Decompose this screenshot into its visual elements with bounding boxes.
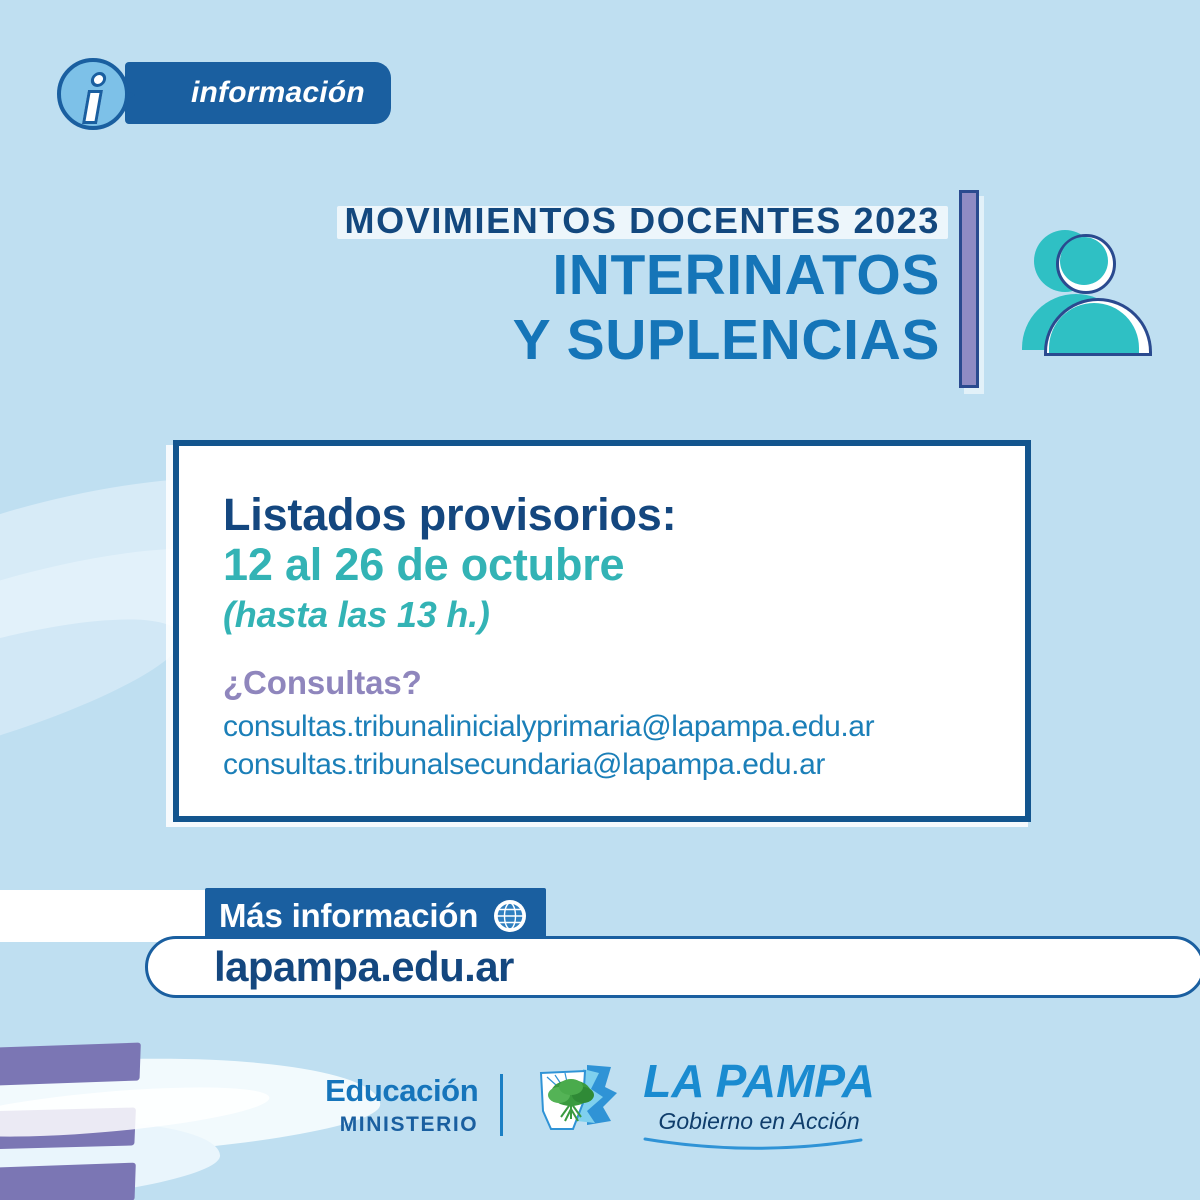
card-email-secondary[interactable]: consultas.tribunalsecundaria@lapampa.edu…	[223, 746, 1025, 784]
footer-logo-group: Educación MINISTERIO	[0, 1058, 1200, 1151]
person-baseline	[1044, 353, 1152, 356]
card-email-primary[interactable]: consultas.tribunalinicialyprimaria@lapam…	[223, 708, 1025, 746]
informacion-banner: información	[125, 62, 391, 124]
headline-line-2: Y SUPLENCIAS	[300, 310, 940, 370]
brand-title: LA PAMPA	[643, 1058, 875, 1104]
footer-divider	[500, 1074, 503, 1136]
headline-kicker: MOVIMIENTOS DOCENTES 2023	[345, 200, 940, 241]
vertical-divider-bar	[959, 190, 979, 388]
ministry-title: Educación	[325, 1075, 478, 1106]
website-pill[interactable]: lapampa.edu.ar	[145, 936, 1200, 998]
brand-subtitle: Gobierno en Acción	[643, 1110, 875, 1133]
headline-line-1: INTERINATOS	[300, 245, 940, 305]
informacion-label: información	[191, 76, 365, 110]
card-consultas-label: ¿Consultas?	[223, 664, 1025, 702]
info-card: Listados provisorios: 12 al 26 de octubr…	[173, 440, 1031, 822]
person-icon	[1022, 228, 1154, 363]
brand-block: LA PAMPA Gobierno en Acción	[643, 1058, 875, 1151]
ministry-subtitle: MINISTERIO	[325, 1114, 478, 1135]
website-url[interactable]: lapampa.edu.ar	[214, 943, 514, 991]
person-head-fill	[1060, 237, 1108, 285]
poster-canvas: información MOVIMIENTOS DOCENTES 2023 IN…	[0, 0, 1200, 1200]
headline-kicker-wrap: MOVIMIENTOS DOCENTES 2023	[345, 200, 940, 241]
headline-group: MOVIMIENTOS DOCENTES 2023 INTERINATOS Y …	[300, 200, 940, 370]
decorative-purple-bar	[0, 1163, 136, 1200]
ministry-block: Educación MINISTERIO	[325, 1075, 478, 1135]
decorative-wave	[0, 585, 194, 813]
card-title: Listados provisorios:	[223, 490, 1025, 540]
card-date-range: 12 al 26 de octubre	[223, 540, 1025, 590]
card-deadline-time: (hasta las 13 h.)	[223, 593, 1025, 636]
la-pampa-map-tree-icon	[525, 1063, 621, 1147]
more-info-label: Más información	[219, 897, 478, 935]
globe-icon	[478, 896, 530, 936]
brand-swoosh-icon	[643, 1137, 863, 1151]
info-card-content: Listados provisorios: 12 al 26 de octubr…	[179, 446, 1025, 785]
